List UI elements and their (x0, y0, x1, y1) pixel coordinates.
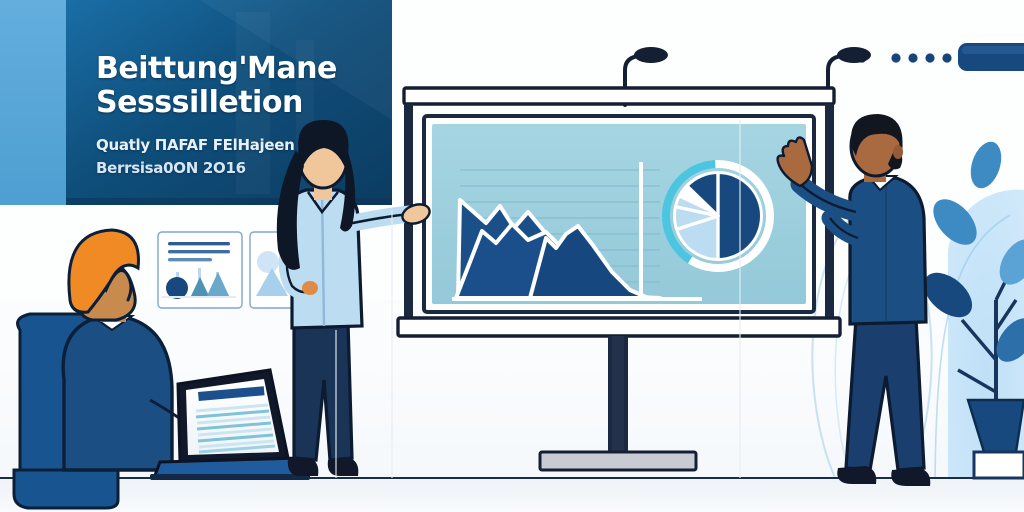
torso (63, 318, 172, 470)
chart-pie (666, 164, 770, 268)
plant-stand (974, 452, 1024, 478)
suit (850, 178, 926, 324)
illustration-canvas: Beittung'Mane Sesssilletion Quatly ПAFAF… (0, 0, 1024, 512)
decor-pill-bar (958, 43, 1024, 71)
scene-illustration (0, 0, 1024, 512)
poster-left (158, 232, 242, 308)
